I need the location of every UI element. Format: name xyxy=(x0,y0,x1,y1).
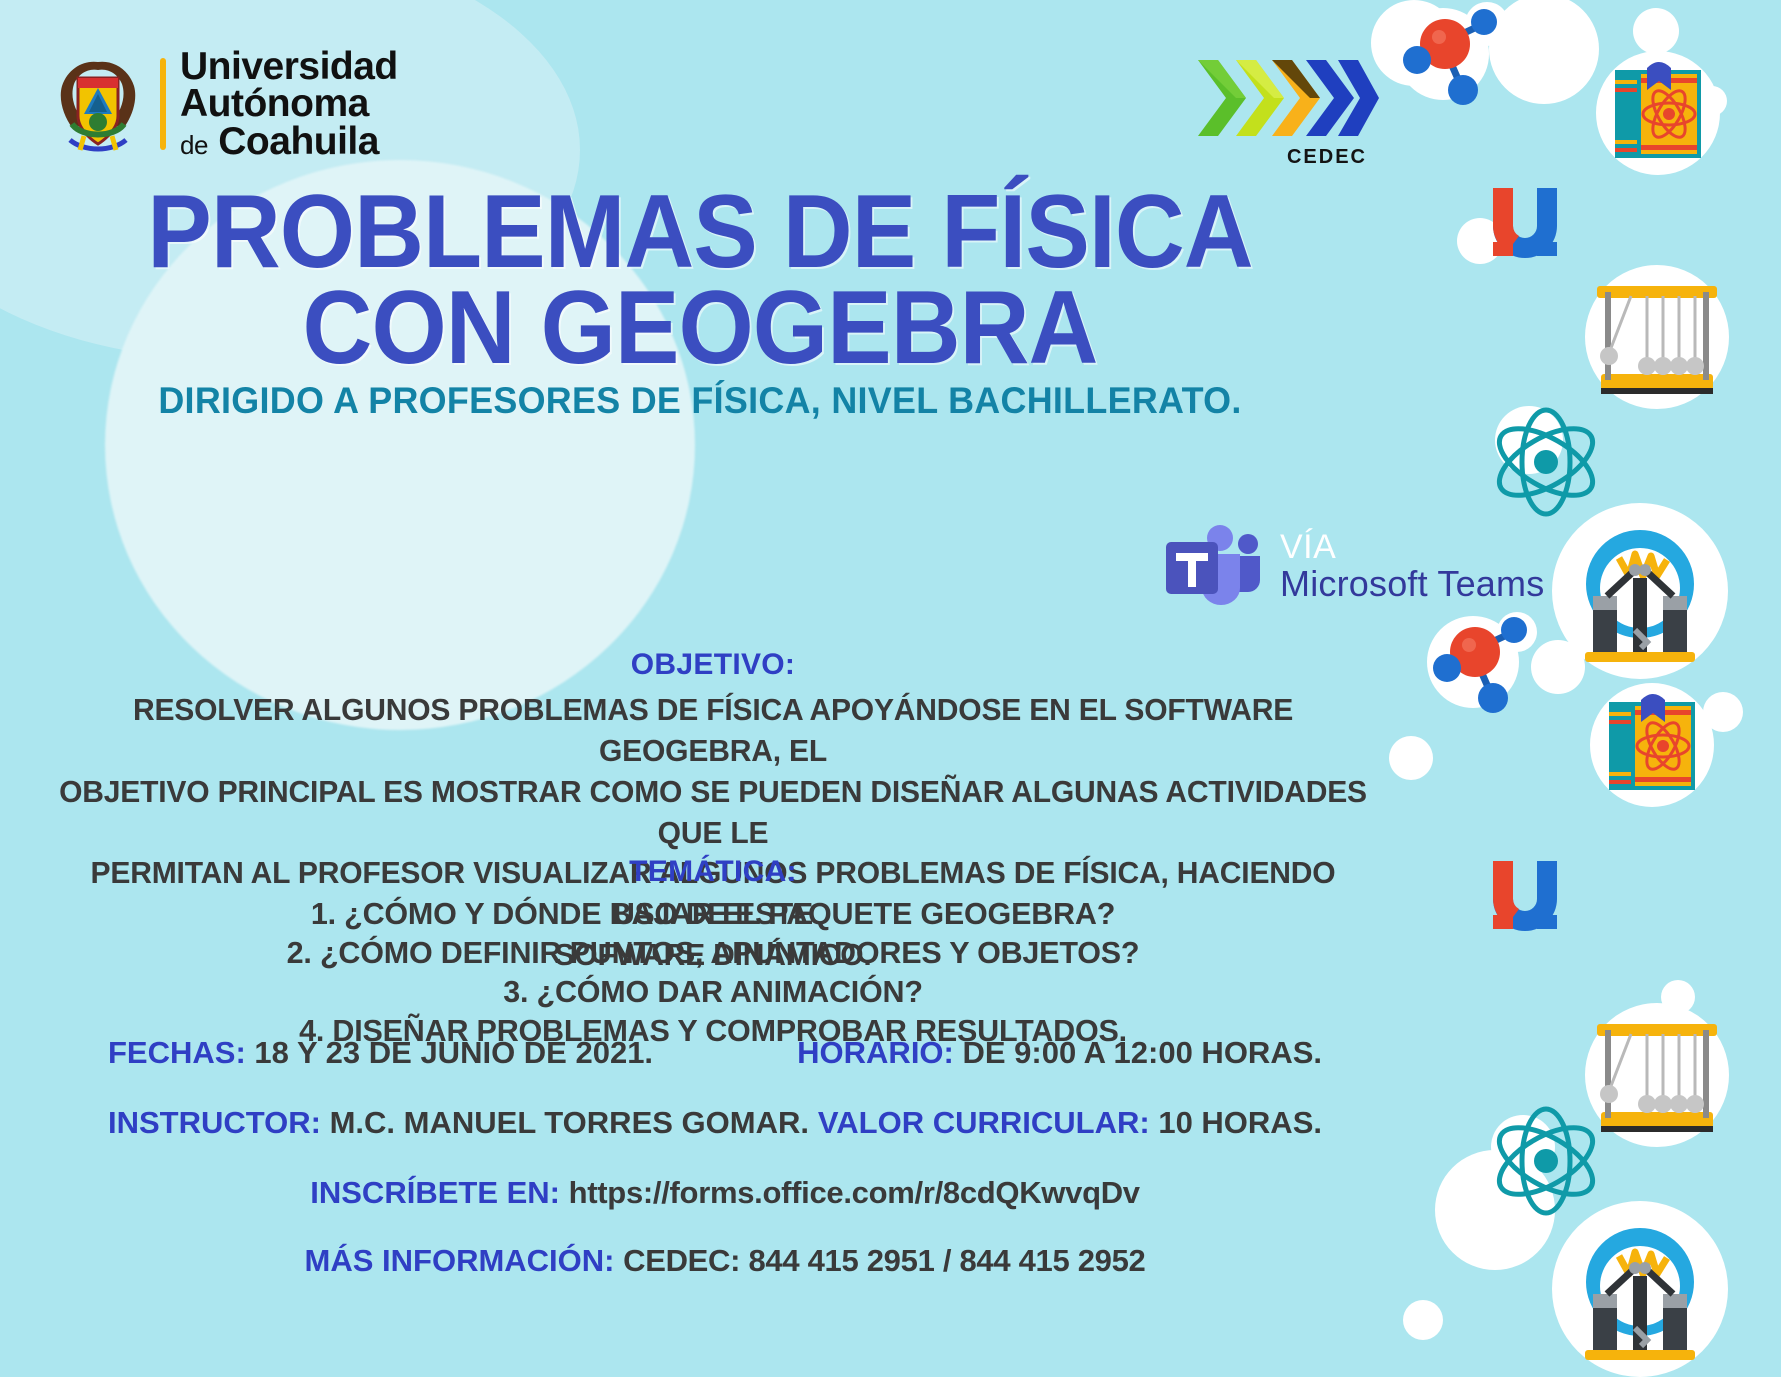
bubble xyxy=(1389,736,1433,780)
instructor-label: INSTRUCTOR: xyxy=(108,1105,321,1140)
bubble xyxy=(1697,86,1727,116)
topics-section: TEMÁTICA: 1. ¿CÓMO Y DÓNDE BAJAR EL PAQU… xyxy=(48,855,1378,1051)
title-line-2: CON GEOGEBRA xyxy=(49,281,1351,377)
contact-label: MÁS INFORMACIÓN: xyxy=(305,1243,615,1278)
university-line-2: Autónoma xyxy=(180,85,398,122)
uadec-crest-icon xyxy=(50,52,146,156)
schedule-value: DE 9:00 A 12:00 HORAS. xyxy=(963,1035,1323,1070)
bubble xyxy=(1457,218,1503,264)
cedec-logo: CEDEC xyxy=(1196,52,1381,169)
instructor-field: INSTRUCTOR: M.C. MANUEL TORRES GOMAR. xyxy=(70,1105,809,1141)
bubble xyxy=(1371,0,1457,86)
cedec-chevrons-icon xyxy=(1196,52,1381,144)
university-name: Universidad Autónoma de Coahuila xyxy=(180,48,398,160)
schedule-field: HORARIO: DE 9:00 A 12:00 HORAS. xyxy=(797,1035,1380,1071)
registration-row: INSCRÍBETE EN: https://forms.office.com/… xyxy=(70,1175,1380,1211)
schedule-label: HORARIO: xyxy=(797,1035,954,1070)
decorative-science-strip xyxy=(1381,0,1781,1377)
credit-field: VALOR CURRICULAR: 10 HORAS. xyxy=(818,1105,1380,1141)
objective-heading: OBJETIVO: xyxy=(48,648,1378,682)
platform-badge: VÍA Microsoft Teams xyxy=(1158,520,1544,612)
atom-icon xyxy=(1481,396,1611,526)
microsoft-teams-icon xyxy=(1158,520,1264,612)
contact-row: MÁS INFORMACIÓN: CEDEC: 844 415 2951 / 8… xyxy=(70,1243,1380,1279)
logo-divider xyxy=(160,58,166,150)
dates-label: FECHAS: xyxy=(108,1035,246,1070)
bubble xyxy=(1531,640,1585,694)
dates-field: FECHAS: 18 Y 23 DE JUNIO DE 2021. xyxy=(70,1035,653,1071)
horseshoe-magnet-icon xyxy=(1477,182,1573,268)
van-de-graaff-icon xyxy=(1549,1198,1731,1377)
details-section: FECHAS: 18 Y 23 DE JUNIO DE 2021. HORARI… xyxy=(70,1035,1380,1311)
poster-subtitle: DIRIGIDO A PROFESORES DE FÍSICA, NIVEL B… xyxy=(21,380,1379,422)
horseshoe-magnet-icon xyxy=(1477,855,1573,941)
bubble xyxy=(1403,1300,1443,1340)
bubble xyxy=(1633,8,1679,54)
topics-heading: TEMÁTICA: xyxy=(48,855,1378,889)
molecule-icon xyxy=(1389,2,1509,112)
atom-icon xyxy=(1481,1095,1611,1225)
book-atom-icon xyxy=(1593,48,1723,178)
dates-value: 18 Y 23 DE JUNIO DE 2021. xyxy=(254,1035,653,1070)
list-item: 2. ¿CÓMO DEFINIR PUNTOS, APUNTADORES Y O… xyxy=(48,934,1378,973)
cedec-label: CEDEC xyxy=(1196,146,1381,169)
bubble xyxy=(1703,692,1743,732)
poster-title: PROBLEMAS DE FÍSICA CON GEOGEBRA xyxy=(49,185,1351,376)
platform-via-label: VÍA xyxy=(1280,530,1544,564)
details-row-dates: FECHAS: 18 Y 23 DE JUNIO DE 2021. HORARI… xyxy=(70,1035,1380,1071)
registration-link[interactable]: https://forms.office.com/r/8cdQKwvqDv xyxy=(569,1175,1140,1210)
newtons-cradle-icon xyxy=(1577,262,1737,412)
objective-line: RESOLVER ALGUNOS PROBLEMAS DE FÍSICA APO… xyxy=(58,690,1368,772)
university-logo: Universidad Autónoma de Coahuila xyxy=(50,48,398,160)
registration-label: INSCRÍBETE EN: xyxy=(310,1175,560,1210)
university-line-3-bold: Coahuila xyxy=(218,120,379,163)
university-line-3-small: de xyxy=(180,130,208,160)
objective-line: OBJETIVO PRINCIPAL ES MOSTRAR COMO SE PU… xyxy=(58,772,1368,854)
contact-value: CEDEC: 844 415 2951 / 844 415 2952 xyxy=(623,1243,1145,1278)
university-line-1: Universidad xyxy=(180,48,398,85)
list-item: 1. ¿CÓMO Y DÓNDE BAJAR EL PAQUETE GEOGEB… xyxy=(48,895,1378,934)
topics-list: 1. ¿CÓMO Y DÓNDE BAJAR EL PAQUETE GEOGEB… xyxy=(48,895,1378,1051)
bubble xyxy=(1661,980,1695,1014)
poster-canvas: Universidad Autónoma de Coahuila CEDEC xyxy=(0,0,1781,1377)
platform-name: Microsoft Teams xyxy=(1280,566,1544,602)
bubble xyxy=(1489,0,1599,104)
van-de-graaff-icon xyxy=(1549,500,1731,682)
list-item: 3. ¿CÓMO DAR ANIMACIÓN? xyxy=(48,973,1378,1012)
bubble xyxy=(1435,1150,1555,1270)
instructor-value: M.C. MANUEL TORRES GOMAR. xyxy=(330,1105,809,1140)
molecule-icon xyxy=(1419,610,1539,720)
details-row-instructor: INSTRUCTOR: M.C. MANUEL TORRES GOMAR. VA… xyxy=(70,1105,1380,1141)
credit-label: VALOR CURRICULAR: xyxy=(818,1105,1150,1140)
university-line-3: de Coahuila xyxy=(180,123,398,160)
book-atom-icon xyxy=(1587,680,1717,810)
credit-value: 10 HORAS. xyxy=(1158,1105,1322,1140)
newtons-cradle-icon xyxy=(1577,1000,1737,1150)
